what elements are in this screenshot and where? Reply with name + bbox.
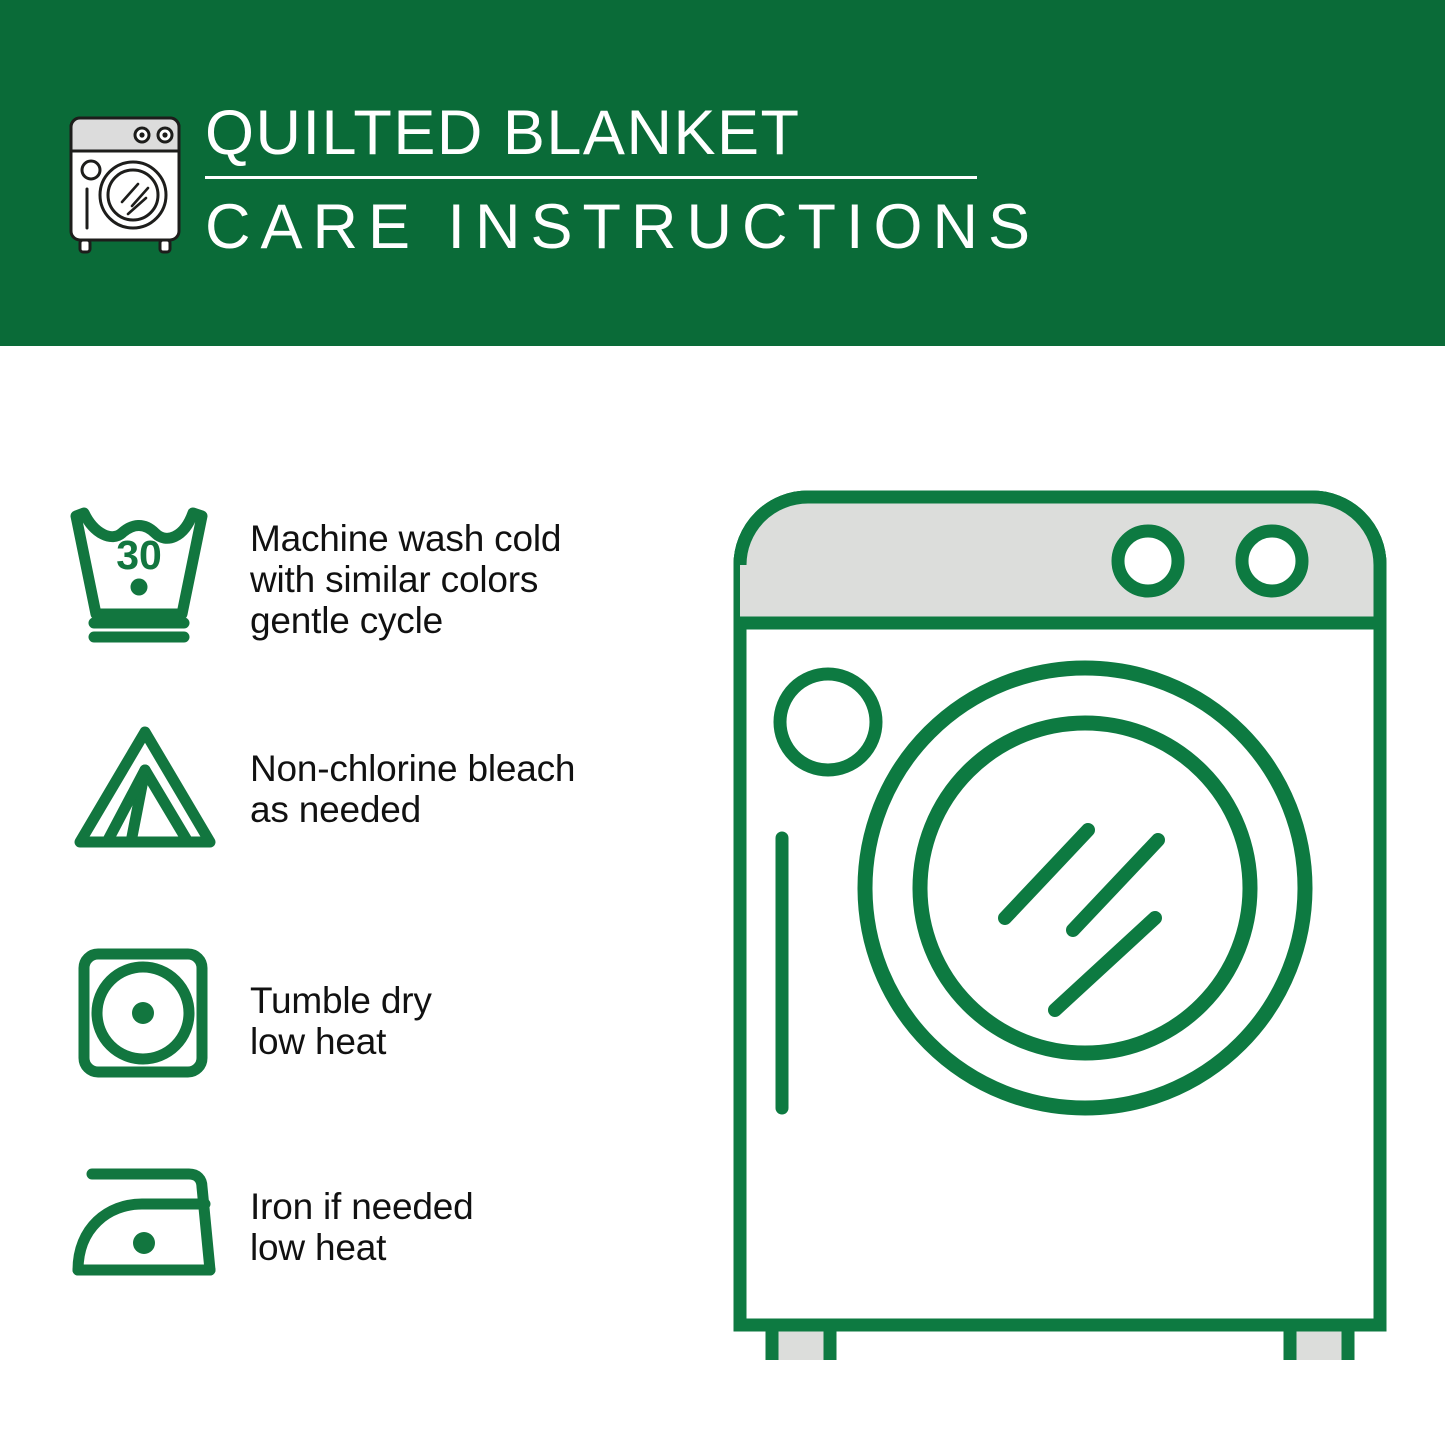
- wash-basin-icon: 30: [60, 494, 230, 644]
- bleach-triangle-icon: [60, 714, 230, 864]
- wash-temperature-label: 30: [116, 532, 162, 578]
- care-label-tumble-dry: Tumble dry low heat: [250, 938, 432, 1062]
- care-label-iron: Iron if needed low heat: [250, 1146, 473, 1268]
- care-row-tumble-dry: Tumble dry low heat: [60, 938, 680, 1088]
- header-title-group: QUILTED BLANKET CARE INSTRUCTIONS: [205, 96, 995, 263]
- dispenser-circle: [780, 674, 876, 770]
- care-instructions-poster: QUILTED BLANKET CARE INSTRUCTIONS 30: [0, 0, 1445, 1445]
- page-title: QUILTED BLANKET: [205, 96, 995, 170]
- care-instruction-list: 30 Machine wash cold with similar colors…: [0, 346, 700, 1445]
- machine-door: [865, 668, 1305, 1108]
- washing-machine-illustration: [710, 470, 1410, 1360]
- care-row-machine-wash: 30 Machine wash cold with similar colors…: [60, 494, 680, 644]
- page-subtitle: CARE INSTRUCTIONS: [205, 191, 995, 263]
- care-row-bleach: Non-chlorine bleach as needed: [60, 714, 680, 864]
- tumble-dry-icon: [60, 938, 230, 1088]
- header-band: QUILTED BLANKET CARE INSTRUCTIONS: [0, 0, 1445, 346]
- title-divider: [205, 176, 977, 179]
- washing-machine-icon: [62, 104, 188, 254]
- care-row-iron: Iron if needed low heat: [60, 1146, 680, 1296]
- iron-icon: [60, 1146, 230, 1296]
- care-label-bleach: Non-chlorine bleach as needed: [250, 714, 575, 830]
- care-label-machine-wash: Machine wash cold with similar colors ge…: [250, 494, 561, 641]
